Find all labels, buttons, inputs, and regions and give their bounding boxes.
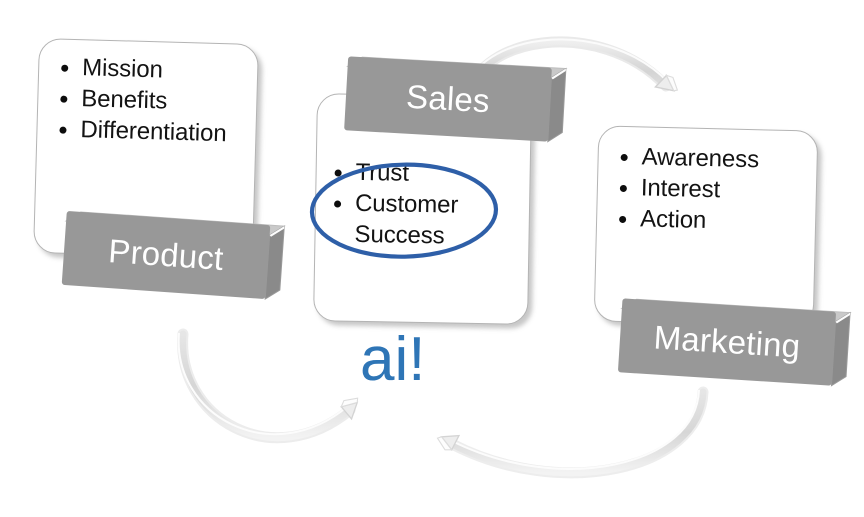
block-product[interactable]: Product: [62, 211, 271, 299]
bullet-list-marketing: Awareness Interest Action: [617, 141, 760, 238]
block-product-face: Product: [62, 211, 271, 299]
block-marketing-label: Marketing: [653, 320, 801, 362]
block-marketing[interactable]: Marketing: [618, 298, 836, 385]
list-item: Interest: [618, 172, 759, 207]
bullet-list-product: Mission Benefits Differentiation: [57, 52, 229, 150]
block-sales[interactable]: Sales: [344, 56, 552, 141]
list-item: Awareness: [618, 141, 759, 176]
block-sales-face: Sales: [344, 56, 552, 141]
ai-wordmark: ai!: [360, 329, 425, 391]
block-sales-label: Sales: [405, 79, 490, 117]
block-marketing-face: Marketing: [618, 298, 836, 385]
list-item: Differentiation: [57, 114, 227, 150]
block-product-label: Product: [107, 234, 224, 275]
list-item: Mission: [59, 52, 229, 88]
list-item: Action: [617, 203, 758, 238]
diagram-canvas: Mission Benefits Differentiation Trust C…: [0, 0, 864, 517]
arrow-product-to-center: [179, 333, 366, 438]
arrow-marketing-to-center: [434, 390, 703, 473]
highlight-ellipse-customer-success: [305, 134, 507, 267]
card-marketing[interactable]: Awareness Interest Action: [594, 125, 819, 326]
list-item: Benefits: [58, 83, 228, 119]
